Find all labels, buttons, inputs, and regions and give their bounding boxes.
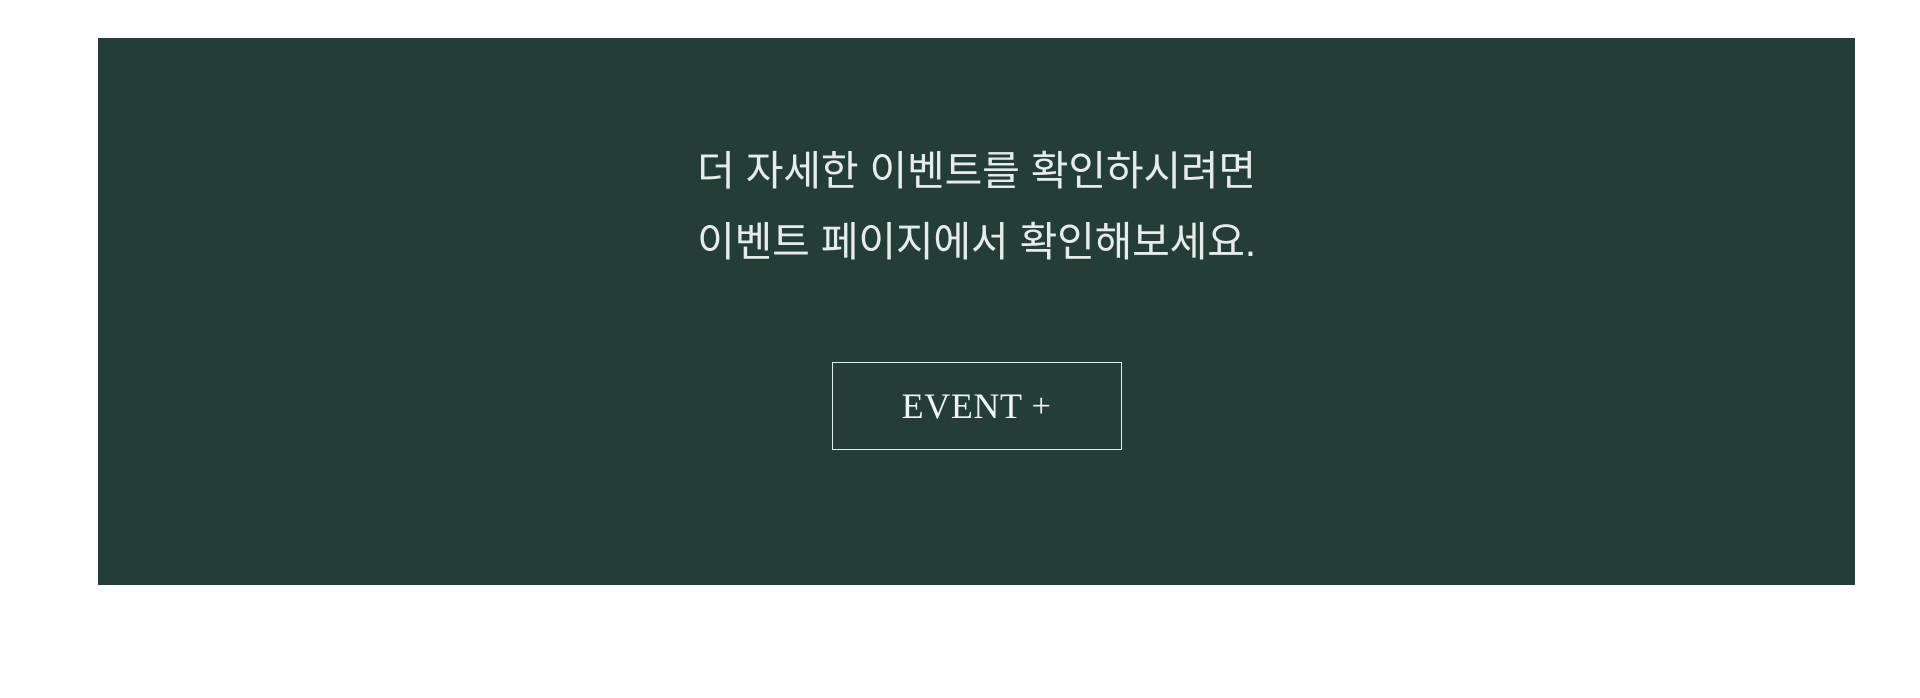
promo-headline: 더 자세한 이벤트를 확인하시려면 이벤트 페이지에서 확인해보세요. — [697, 136, 1256, 277]
plus-icon: + — [1032, 390, 1052, 424]
cta-container: EVENT + — [98, 362, 1855, 450]
event-button-label: EVENT — [902, 385, 1023, 427]
event-promo-content: 더 자세한 이벤트를 확인하시려면 이벤트 페이지에서 확인해보세요. EVEN… — [98, 38, 1855, 585]
promo-headline-line-2: 이벤트 페이지에서 확인해보세요. — [697, 207, 1256, 278]
page-canvas: 더 자세한 이벤트를 확인하시려면 이벤트 페이지에서 확인해보세요. EVEN… — [0, 0, 1920, 698]
event-page-button[interactable]: EVENT + — [832, 362, 1122, 450]
promo-headline-line-1: 더 자세한 이벤트를 확인하시려면 — [697, 136, 1256, 207]
event-promo-panel: 더 자세한 이벤트를 확인하시려면 이벤트 페이지에서 확인해보세요. EVEN… — [98, 38, 1855, 585]
